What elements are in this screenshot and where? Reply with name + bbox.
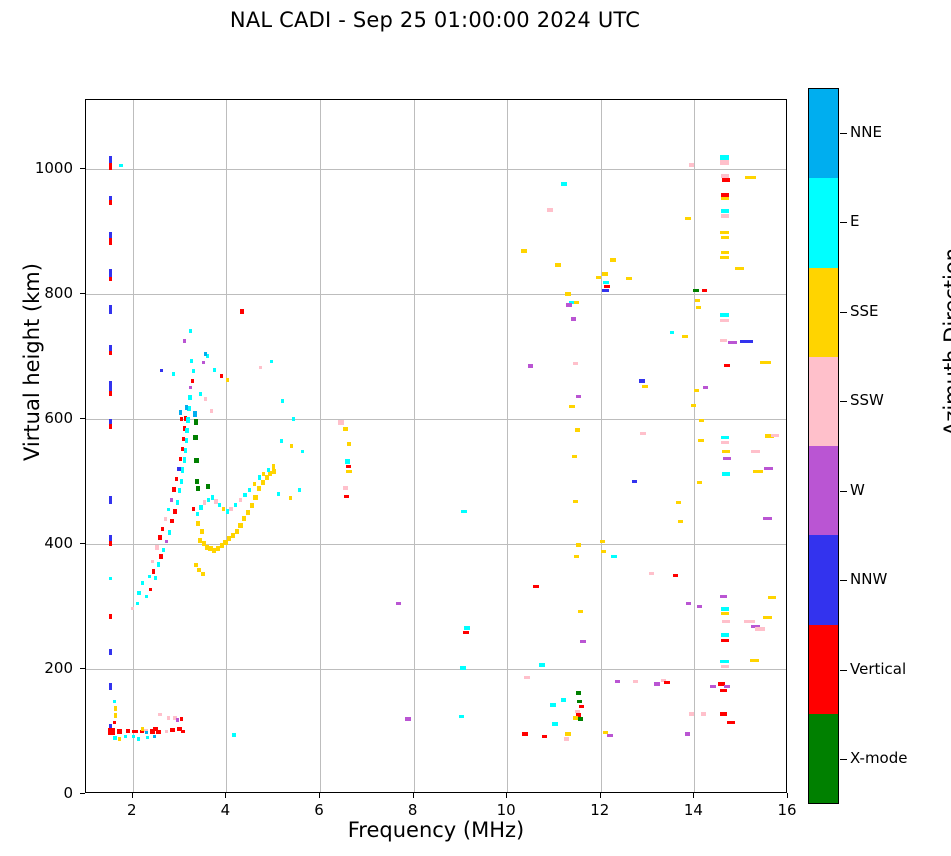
data-marker [246,510,250,515]
data-marker [114,706,117,711]
data-marker [633,680,639,683]
data-marker [199,505,202,509]
colorbar-title: Azimuth Direction [940,202,951,482]
data-marker [654,682,660,685]
data-marker [576,395,582,398]
data-marker [109,614,112,620]
x-axis-label: Frequency (MHz) [85,818,787,842]
data-marker [109,649,112,655]
data-marker [262,472,265,476]
data-marker [109,305,112,314]
data-marker [158,535,161,539]
data-marker [611,555,617,558]
data-marker [750,659,759,662]
data-marker [576,543,581,547]
data-marker [603,731,609,734]
colorbar-segment [809,357,838,446]
data-marker [193,411,198,417]
data-marker [181,467,184,473]
data-marker [155,545,158,549]
data-markers-layer [86,100,786,792]
data-marker [345,459,350,463]
data-marker [165,540,168,544]
data-marker [113,700,116,704]
chart-title: NAL CADI - Sep 25 01:00:00 2024 UTC [0,8,870,32]
data-marker [213,368,216,372]
data-marker [555,263,561,266]
data-marker [522,732,528,736]
data-marker [710,685,716,688]
data-marker [181,730,185,733]
data-marker [194,563,198,567]
data-marker [649,572,655,575]
data-marker [343,486,348,490]
data-marker [108,728,115,736]
data-marker [131,607,134,610]
colorbar-tick-mark [840,580,847,581]
data-marker [678,520,684,523]
data-marker [721,436,729,440]
data-marker [460,666,466,670]
data-marker [720,319,728,322]
data-marker [289,496,292,500]
data-marker [113,721,116,724]
data-marker [141,727,144,731]
data-marker [183,339,186,343]
colorbar-tick-mark [840,491,847,492]
data-marker [565,292,571,296]
data-marker [639,379,645,383]
data-marker [573,500,579,504]
data-marker [744,620,754,623]
data-marker [721,639,729,642]
data-marker [596,276,601,279]
data-marker [152,569,155,573]
data-marker [396,602,402,605]
colorbar-segment [809,178,838,267]
data-marker [694,389,699,392]
data-marker [188,395,191,399]
y-tick-mark [80,418,85,419]
data-marker [640,432,646,435]
data-marker [721,612,729,615]
data-marker [602,272,608,276]
data-marker [721,236,729,240]
colorbar-segment [809,625,838,714]
data-marker [720,689,727,692]
data-marker [158,713,161,717]
data-marker [165,730,169,733]
x-tick-label: 16 [762,801,812,819]
data-marker [235,529,239,534]
data-marker [703,386,708,389]
data-marker [528,364,534,368]
data-marker [170,728,175,732]
data-marker [561,182,567,186]
y-tick-mark [80,168,85,169]
data-marker [109,577,112,580]
data-marker [626,277,632,280]
data-marker [109,351,112,355]
plot-area [85,99,787,793]
data-marker [664,681,670,684]
x-tick-mark [693,793,694,798]
data-marker [232,733,236,737]
data-marker [196,521,200,526]
data-marker [691,404,696,407]
data-marker [763,517,772,520]
data-marker [552,722,558,726]
x-tick-mark [506,793,507,798]
data-marker [192,507,195,511]
data-marker [194,458,198,463]
data-marker [346,465,351,469]
data-marker [272,464,275,468]
data-marker [547,208,553,211]
data-marker [204,352,207,356]
data-marker [338,420,344,424]
data-marker [153,735,156,738]
data-marker [720,660,728,664]
data-marker [176,500,179,504]
data-marker [578,717,583,721]
data-marker [253,482,256,486]
colorbar-tick-mark [840,401,847,402]
ionogram-figure: NAL CADI - Sep 25 01:00:00 2024 UTC 2468… [0,0,951,856]
data-marker [229,507,232,511]
data-marker [167,508,170,512]
data-marker [117,729,122,734]
data-marker [727,721,734,724]
data-marker [175,477,178,481]
data-marker [533,585,539,588]
data-marker [220,374,223,378]
data-marker [170,498,173,502]
data-marker [464,626,470,630]
data-marker [405,717,410,720]
data-marker [632,480,638,483]
data-marker [571,317,577,321]
data-marker [721,214,729,218]
data-marker [550,703,556,707]
data-marker [248,488,251,492]
data-marker [720,256,728,259]
data-marker [602,289,608,292]
x-tick-label: 2 [107,801,157,819]
data-marker [564,737,569,740]
data-marker [728,341,737,345]
data-marker [720,595,727,598]
data-marker [724,685,731,688]
x-tick-label: 12 [575,801,625,819]
data-marker [156,730,161,734]
colorbar-tick-mark [840,759,847,760]
data-marker [572,455,578,459]
data-marker [183,457,186,463]
data-marker [167,716,170,720]
data-marker [180,717,184,721]
data-marker [642,385,648,388]
data-marker [290,444,293,448]
data-marker [701,712,706,715]
data-marker [573,716,578,720]
x-tick-mark [787,793,788,798]
colorbar [808,88,839,804]
data-marker [109,163,112,171]
data-marker [561,698,567,702]
colorbar-label-sse: SSE [850,302,879,320]
data-marker [580,640,585,643]
data-marker [191,379,194,383]
data-marker [539,663,545,667]
data-marker [281,399,284,403]
y-tick-mark [80,793,85,794]
data-marker [109,200,112,206]
data-marker [721,197,729,200]
data-marker [720,712,727,715]
colorbar-segment [809,268,838,357]
colorbar-segment [809,714,838,803]
colorbar-label-nnw: NNW [850,570,887,588]
colorbar-tick-mark [840,670,847,671]
data-marker [168,530,171,534]
colorbar-label-x-mode: X-mode [850,749,907,767]
data-marker [461,510,467,514]
data-marker [722,178,730,182]
data-marker [292,417,295,421]
x-tick-mark [319,793,320,798]
data-marker [721,209,729,213]
data-marker [196,512,199,516]
data-marker [615,680,621,683]
data-marker [149,588,152,592]
data-marker [160,369,163,372]
data-marker [180,479,183,484]
data-marker [521,249,527,253]
data-marker [695,299,700,302]
y-tick-mark [80,668,85,669]
data-marker [132,730,138,734]
data-marker [346,470,351,474]
data-marker [190,359,193,363]
data-marker [185,428,188,433]
colorbar-label-e: E [850,212,859,230]
data-marker [574,301,580,304]
data-marker [250,503,254,508]
colorbar-segment [809,89,838,178]
data-marker [146,736,149,739]
data-marker [576,691,581,695]
data-marker [119,164,123,167]
data-marker [118,737,121,740]
data-marker [159,554,162,558]
data-marker [109,391,112,396]
data-marker [577,700,582,704]
data-marker [109,238,112,246]
data-marker [270,360,273,363]
data-marker [243,493,246,497]
x-tick-mark [132,793,133,798]
data-marker [721,441,729,444]
data-marker [172,372,175,376]
data-marker [721,607,729,611]
data-marker [670,331,675,334]
data-marker [234,503,237,507]
data-marker [240,309,244,313]
data-marker [578,610,583,614]
data-marker [753,470,762,473]
data-marker [463,631,469,634]
colorbar-tick-mark [840,312,847,313]
data-marker [154,576,157,580]
data-marker [151,560,154,564]
y-axis-label: Virtual height (km) [20,197,44,527]
data-marker [686,602,691,605]
data-marker [239,498,242,502]
data-marker [185,438,188,443]
data-marker [261,480,265,485]
data-marker [673,574,679,577]
data-marker [280,439,283,443]
data-marker [298,488,301,492]
data-marker [186,417,189,423]
data-marker [148,575,151,579]
x-tick-label: 6 [294,801,344,819]
x-tick-mark [600,793,601,798]
colorbar-label-vertical: Vertical [850,660,906,678]
data-marker [699,419,704,422]
data-marker [763,616,772,619]
data-marker [267,468,270,472]
data-marker [210,409,213,413]
data-marker [696,306,701,309]
data-marker [173,509,176,513]
data-marker [344,495,349,499]
data-marker [136,602,139,605]
data-marker [161,527,164,531]
data-marker [459,715,465,719]
y-tick-label: 1000 [7,159,73,177]
colorbar-segment [809,535,838,624]
data-marker [771,434,779,437]
data-marker [189,386,192,390]
data-marker [697,481,702,484]
data-marker [573,362,579,365]
data-marker [693,289,699,292]
x-tick-mark [413,793,414,798]
data-marker [604,285,610,288]
data-marker [145,595,148,598]
data-marker [193,435,197,440]
data-marker [109,541,112,546]
data-marker [109,424,112,428]
y-tick-label: 0 [7,784,73,802]
data-marker [195,479,199,484]
x-tick-label: 8 [388,801,438,819]
data-marker [685,732,690,735]
colorbar-tick-mark [840,133,847,134]
data-marker [301,450,304,454]
data-marker [764,467,773,470]
data-marker [600,540,606,543]
colorbar-tick-mark [840,222,847,223]
data-marker [113,736,117,740]
data-marker [194,419,198,425]
data-marker [258,475,261,479]
data-marker [141,581,144,585]
data-marker [722,472,730,476]
data-marker [259,366,262,369]
data-marker [170,519,173,523]
data-marker [751,450,760,453]
data-marker [277,492,280,496]
data-marker [253,495,257,500]
data-marker [226,378,229,382]
data-marker [724,364,730,367]
data-marker [109,496,112,504]
data-marker [720,313,728,317]
data-marker [722,620,730,623]
data-marker [689,712,694,715]
data-marker [343,427,348,431]
data-marker [162,548,165,552]
data-marker [685,217,691,220]
data-marker [745,176,755,180]
y-tick-label: 400 [7,534,73,552]
data-marker [201,572,205,576]
data-marker [735,267,743,270]
data-marker [114,713,117,718]
data-marker [720,160,729,165]
data-marker [755,627,764,630]
y-tick-mark [80,293,85,294]
x-tick-label: 4 [200,801,250,819]
data-marker [185,405,188,409]
data-marker [157,562,160,566]
data-marker [192,369,195,373]
data-marker [206,484,210,489]
data-marker [199,392,202,396]
data-marker [566,303,572,307]
data-marker [145,731,148,734]
data-marker [682,335,688,338]
x-tick-label: 14 [668,801,718,819]
data-marker [137,737,140,740]
data-marker [542,735,548,739]
y-tick-mark [80,543,85,544]
data-marker [579,705,584,709]
data-marker [721,633,729,637]
data-marker [698,439,703,442]
data-marker [238,523,242,528]
data-marker [257,486,261,491]
data-marker [610,258,616,261]
data-marker [524,676,530,679]
data-marker [722,450,730,454]
colorbar-segment [809,446,838,535]
colorbar-label-ssw: SSW [850,391,884,409]
y-tick-label: 200 [7,659,73,677]
data-marker [760,361,770,365]
data-marker [189,329,192,333]
colorbar-label-w: W [850,481,865,499]
data-marker [740,340,753,343]
data-marker [601,550,607,553]
data-marker [242,516,246,521]
data-marker [697,605,702,608]
data-marker [721,251,729,255]
data-marker [164,517,167,521]
